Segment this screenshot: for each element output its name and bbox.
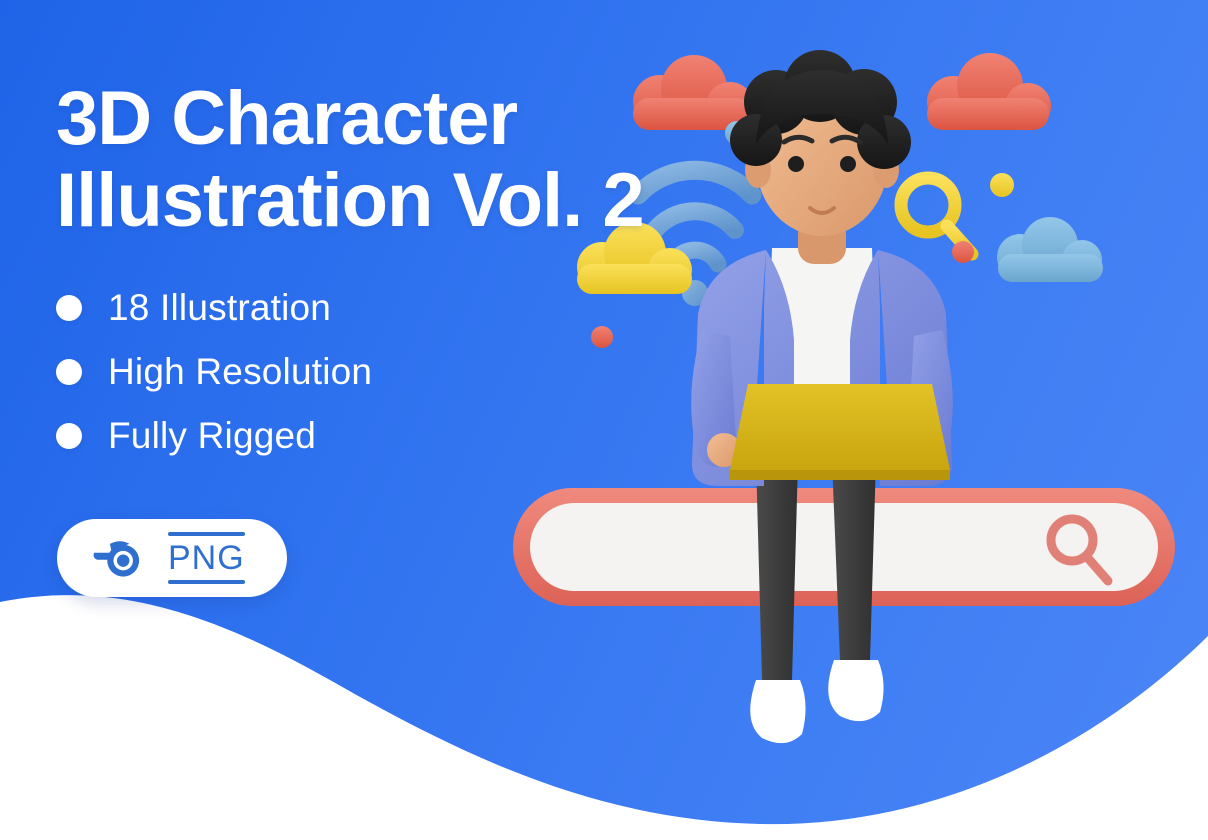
laptop (730, 384, 950, 480)
cloud-blue (997, 217, 1103, 282)
blender-icon (90, 535, 144, 581)
headline-line-1: 3D Character (56, 76, 517, 161)
format-label: PNG (168, 536, 245, 580)
headline-line-2: Illustration Vol. 2 (56, 160, 756, 242)
sphere-red-left (591, 326, 613, 348)
leg-right (832, 460, 876, 660)
feature-label: 18 Illustration (108, 288, 331, 328)
feature-label: Fully Rigged (108, 416, 316, 456)
nose (813, 185, 831, 199)
cloud-red-right (927, 53, 1051, 130)
bullet-dot-icon (56, 295, 82, 321)
shoe-left (750, 680, 805, 743)
feature-label: High Resolution (108, 352, 372, 392)
list-item: Fully Rigged (56, 416, 372, 456)
sphere-yellow (990, 173, 1014, 197)
page-title: 3D Character Illustration Vol. 2 (56, 78, 756, 242)
sphere-red-right (952, 241, 974, 263)
headline-block: 3D Character Illustration Vol. 2 (56, 78, 756, 242)
bullet-dot-icon (56, 423, 82, 449)
shoe-right (828, 660, 883, 721)
eye-right (840, 156, 856, 172)
eye-left (788, 156, 804, 172)
list-item: 18 Illustration (56, 288, 372, 328)
format-badge[interactable]: PNG (57, 519, 287, 597)
list-item: High Resolution (56, 352, 372, 392)
leg-left (756, 460, 798, 680)
feature-list: 18 Illustration High Resolution Fully Ri… (56, 288, 372, 480)
bullet-dot-icon (56, 359, 82, 385)
png-rule-bottom (168, 580, 245, 584)
promo-banner: 3D Character Illustration Vol. 2 18 Illu… (0, 0, 1208, 840)
png-mark: PNG (168, 532, 245, 584)
